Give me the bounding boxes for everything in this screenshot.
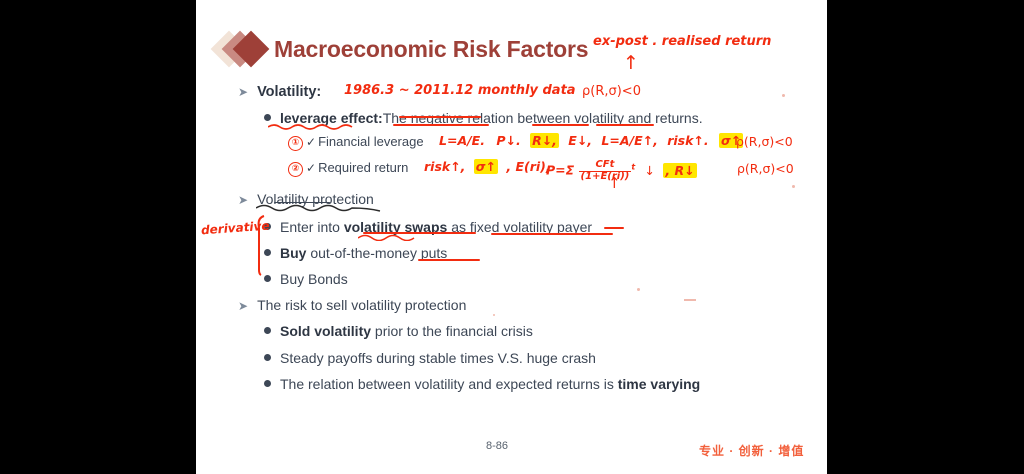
bullet-dot-icon [264, 114, 271, 121]
circled-number-two: ② [288, 161, 306, 176]
slide-title-row: Macroeconomic Risk Factors [216, 32, 588, 66]
bullet-required-return: ②✓Required return [288, 160, 408, 177]
page-number: 8-86 [486, 440, 508, 452]
arrow-bullet-icon-2: ➤ [238, 193, 248, 207]
check-icon-2: ✓ [306, 161, 316, 175]
squiggle-underline-volatility-protection [256, 202, 396, 214]
formula-exponent: t [631, 162, 635, 171]
formula-fraction: CFt (1+E(ri)) [579, 160, 632, 182]
bullet-dot-icon-4 [264, 275, 271, 282]
presentation-slide: Macroeconomic Risk Factors ex-post . rea… [196, 0, 827, 474]
highlight-r-down-1: R↓, [530, 133, 559, 148]
squiggle-underline-leverage [268, 122, 358, 130]
arrow-bullet-icon-3: ➤ [238, 299, 248, 313]
check-icon-1: ✓ [306, 135, 316, 149]
brand-footer: 专业 · 创新 · 增值 [699, 442, 804, 459]
page-title: Macroeconomic Risk Factors [274, 36, 588, 63]
diamond-logo-icon [216, 32, 274, 66]
underline-volatility-word [532, 124, 589, 126]
arrow-bullet-icon: ➤ [238, 85, 248, 99]
stray-ink-mark-5 [792, 185, 795, 188]
annotation-rho-3: ρ(R,σ)<0 [737, 161, 794, 176]
annotation-rho-2: ρ(R,σ)<0 [736, 134, 793, 149]
bullet-steady-payoffs: Steady payoffs during stable times V.S. … [264, 350, 596, 366]
bullet-risk-to-sell: ➤The risk to sell volatility protection [238, 297, 466, 313]
annotation-leverage-equation-1: L=A/E. P↓. R↓, E↓, L=A/E↑, risk↑. σ↑ [439, 133, 743, 148]
underline-fixed-volatility-payer [491, 233, 613, 235]
underline-money-puts [418, 259, 480, 261]
annotation-rho-1: ρ(R,σ)<0 [582, 84, 641, 99]
stray-ink-mark-4 [782, 94, 785, 97]
highlight-r-down-2: , R↓ [663, 163, 696, 178]
bullet-buy-bonds: Buy Bonds [264, 271, 348, 287]
squiggle-under-swaps [358, 231, 428, 241]
annotation-ex-post: ex-post . realised return [593, 34, 771, 49]
stray-ink-mark-3 [493, 314, 495, 316]
formula-denominator: (1+E(ri)) [579, 172, 632, 183]
bullet-volatility: ➤Volatility: [238, 84, 321, 100]
annotation-required-return-ink: risk↑, σ↑ , E(ri), [424, 159, 551, 174]
highlight-sigma-up-2: σ↑ [474, 159, 498, 174]
strikethrough-negative-relation [399, 116, 481, 118]
stray-ink-mark-1 [684, 299, 696, 301]
bullet-financial-leverage: ①✓Financial leverage [288, 134, 424, 151]
strike-payer-tail [604, 227, 624, 229]
bullet-dot-icon-7 [264, 380, 271, 387]
underline-negative-relation [393, 124, 489, 126]
annotation-volatility-data: 1986.3 ~ 2011.12 monthly data [344, 83, 576, 98]
bullet-dot-icon-6 [264, 354, 271, 361]
stray-ink-mark-2 [637, 288, 640, 291]
bullet-dot-icon-5 [264, 327, 271, 334]
bullet-time-varying: The relation between volatility and expe… [264, 376, 700, 392]
screenshot-stage: Macroeconomic Risk Factors ex-post . rea… [0, 0, 1024, 474]
underline-returns-word [596, 124, 654, 126]
annotation-price-formula: P=Σ CFt (1+E(ri)) t ↓ , R↓ [546, 160, 697, 182]
bullet-sold-volatility: Sold volatility prior to the financial c… [264, 323, 533, 339]
formula-numerator: CFt [579, 160, 632, 172]
circled-number-one: ① [288, 135, 306, 150]
annotation-arrow-up-title: ↑ [623, 52, 639, 74]
bracket-derivative [255, 214, 269, 276]
annotation-arrow-up-formula: ↑ [608, 174, 621, 192]
